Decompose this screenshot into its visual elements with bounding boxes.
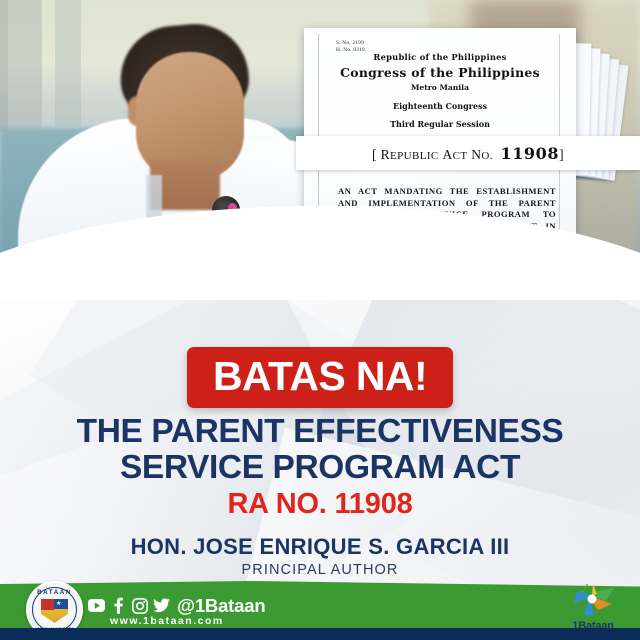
title-line-1: THE PARENT EFFECTIVENESS [0, 414, 640, 450]
website-url[interactable]: www.1bataan.com [110, 615, 224, 627]
headline-title: THE PARENT EFFECTIVENESS SERVICE PROGRAM… [0, 414, 640, 521]
youtube-icon[interactable] [88, 597, 105, 614]
social-links[interactable]: @1Bataan [88, 596, 265, 615]
facebook-icon[interactable] [110, 597, 127, 614]
poster-canvas: S. No. 2199H. No. 8319 Republic of the P… [0, 0, 640, 640]
republic-act-label: [ REPUBLIC ACT NO. 11908] [372, 144, 564, 163]
republic-act-number-band: [ REPUBLIC ACT NO. 11908] [296, 136, 640, 170]
doc-congress-number-line: Eighteenth Congress [304, 101, 576, 111]
document-header: Republic of the Philippines Congress of … [304, 52, 576, 129]
republic-act-number: 11908 [500, 144, 559, 163]
instagram-icon[interactable] [131, 597, 148, 614]
author-block: HON. JOSE ENRIQUE S. GARCIA III PRINCIPA… [0, 534, 640, 579]
photo-region: S. No. 2199H. No. 8319 Republic of the P… [0, 0, 640, 345]
badge-label: BATAS NA! [213, 356, 427, 397]
doc-metro-manila-line: Metro Manila [304, 83, 576, 92]
seal-top-text: BATAAN [28, 589, 81, 596]
batas-na-badge: BATAS NA! [187, 347, 453, 408]
seal-star: ★ [56, 601, 61, 607]
doc-republic-line: Republic of the Philippines [304, 52, 576, 62]
title-line-2: SERVICE PROGRAM ACT [0, 450, 640, 486]
seal-shield-red-quarter [41, 599, 54, 610]
footer-navy-bar [0, 628, 640, 640]
author-name: HON. JOSE ENRIQUE S. GARCIA III [0, 534, 640, 559]
twitter-icon[interactable] [153, 597, 170, 614]
title-line-3-ra-number: RA NO. 11908 [0, 487, 640, 521]
social-handle[interactable]: @1Bataan [177, 596, 265, 615]
one-bataan-logo: 1Bataan [562, 582, 624, 632]
author-role: PRINCIPAL AUTHOR [0, 561, 640, 579]
doc-session-line: Third Regular Session [304, 119, 576, 129]
doc-congress-line: Congress of the Philippines [304, 65, 576, 80]
one-bataan-star-icon [562, 582, 624, 622]
